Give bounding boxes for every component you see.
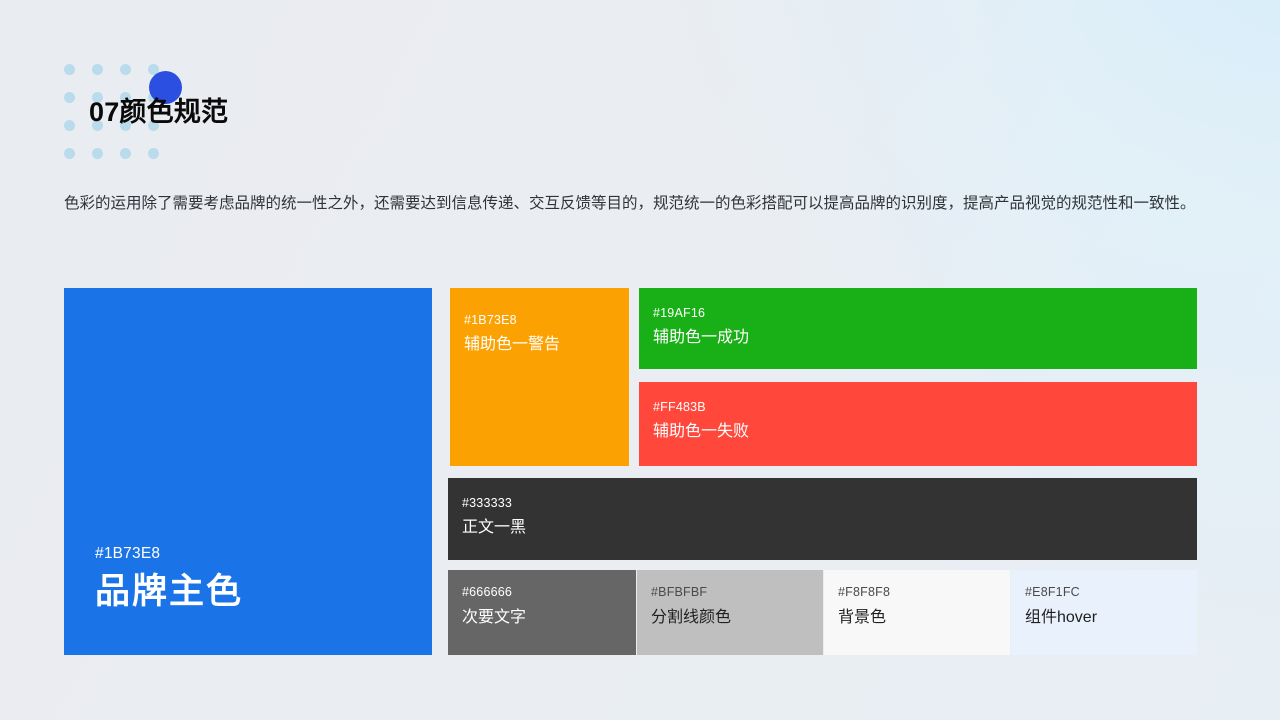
swatch-name: 辅助色一失败 (653, 424, 749, 440)
swatch-hex: #FF483B (653, 401, 706, 414)
swatch-hex: #1B73E8 (464, 314, 517, 327)
swatch-hex: #F8F8F8 (838, 586, 890, 599)
swatch-hex: #666666 (462, 586, 512, 599)
swatch-hover[interactable]: #E8F1FC 组件hover (1011, 570, 1197, 655)
swatch-hex: #1B73E8 (95, 546, 160, 562)
swatch-name: 辅助色一成功 (653, 330, 749, 346)
swatch-background[interactable]: #F8F8F8 背景色 (824, 570, 1010, 655)
decorative-dot (92, 64, 103, 75)
swatch-divider[interactable]: #BFBFBF 分割线颜色 (637, 570, 823, 655)
swatch-hex: #BFBFBF (651, 586, 707, 599)
swatch-name: 正文一黑 (462, 520, 526, 536)
decorative-dot (64, 148, 75, 159)
slide-canvas: 07颜色规范 色彩的运用除了需要考虑品牌的统一性之外，还需要达到信息传递、交互反… (0, 0, 1280, 720)
swatch-hex: #19AF16 (653, 307, 705, 320)
swatch-text-black[interactable]: #333333 正文一黑 (448, 478, 1197, 560)
page-title: 07颜色规范 (89, 90, 228, 129)
decorative-dot (120, 148, 131, 159)
swatch-text-secondary[interactable]: #666666 次要文字 (448, 570, 636, 655)
swatch-name: 品牌主色 (95, 574, 243, 609)
decorative-dot (64, 92, 75, 103)
decorative-dot (120, 64, 131, 75)
swatch-brand[interactable]: #1B73E8 品牌主色 (64, 288, 432, 655)
decorative-dot (64, 64, 75, 75)
intro-paragraph: 色彩的运用除了需要考虑品牌的统一性之外，还需要达到信息传递、交互反馈等目的，规范… (64, 190, 1204, 218)
swatch-hex: #333333 (462, 497, 512, 510)
swatch-name: 次要文字 (462, 610, 526, 626)
swatch-name: 背景色 (838, 610, 886, 626)
decorative-dot (92, 148, 103, 159)
decorative-dot (64, 120, 75, 131)
swatch-failure[interactable]: #FF483B 辅助色一失败 (639, 382, 1197, 466)
swatch-hex: #E8F1FC (1025, 586, 1080, 599)
decorative-dot (148, 148, 159, 159)
swatch-warning[interactable]: #1B73E8 辅助色一警告 (450, 288, 629, 466)
swatch-name: 分割线颜色 (651, 610, 731, 626)
swatch-name: 组件hover (1025, 610, 1097, 626)
swatch-name: 辅助色一警告 (464, 337, 560, 353)
swatch-success[interactable]: #19AF16 辅助色一成功 (639, 288, 1197, 369)
